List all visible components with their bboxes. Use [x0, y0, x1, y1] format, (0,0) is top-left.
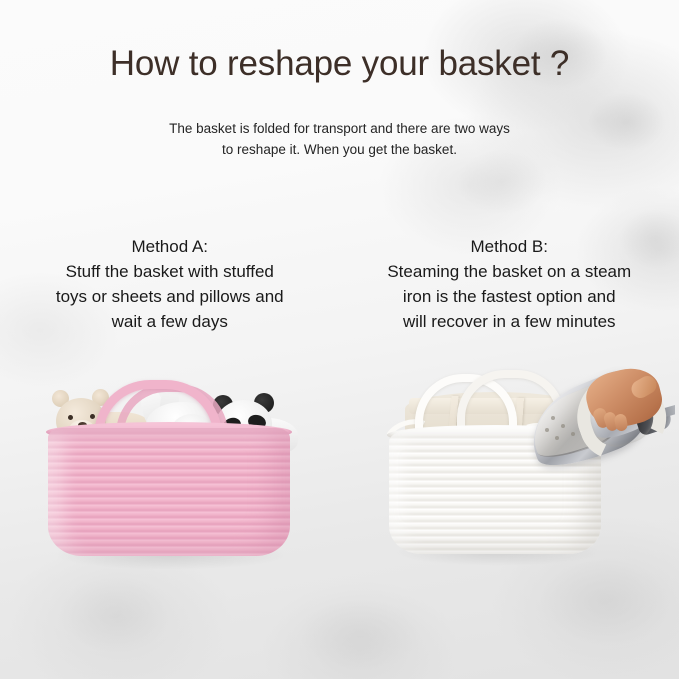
subtitle-line-1: The basket is folded for transport and t… [0, 118, 679, 139]
page-subtitle: The basket is folded for transport and t… [0, 118, 679, 160]
method-b-photo-white-basket [375, 362, 675, 572]
steam-iron-vent-hole [561, 424, 565, 428]
page-title: How to reshape your basket ? [0, 44, 679, 84]
method-a-line-1: Stuff the basket with stuffed [14, 259, 326, 284]
background-bokeh-blob [300, 600, 420, 670]
teddy-bear-eye-shape [90, 414, 95, 419]
steam-iron-vent-hole [551, 416, 555, 420]
method-b-line-3: will recover in a few minutes [354, 309, 666, 334]
steam-iron-vent-hole [545, 428, 549, 432]
steam-iron-vent-hole [571, 432, 575, 436]
method-a-heading: Method A: [14, 234, 326, 259]
subtitle-line-2: to reshape it. When you get the basket. [0, 139, 679, 160]
steam-iron-group [525, 366, 675, 490]
pink-basket-body [48, 428, 290, 556]
background-bokeh-blob [540, 560, 670, 644]
teddy-bear-eye-shape [68, 415, 73, 420]
background-bokeh-blob [60, 576, 170, 652]
method-b-body: Steaming the basket on a steam iron is t… [354, 259, 666, 334]
method-b-line-1: Steaming the basket on a steam [354, 259, 666, 284]
infographic-canvas: How to reshape your basket ? The basket … [0, 0, 679, 679]
method-a-line-3: wait a few days [14, 309, 326, 334]
method-a-line-2: toys or sheets and pillows and [14, 284, 326, 309]
method-a-body: Stuff the basket with stuffed toys or sh… [14, 259, 326, 334]
method-b-column: Method B: Steaming the basket on a steam… [340, 234, 679, 334]
method-a-column: Method A: Stuff the basket with stuffed … [0, 234, 340, 334]
steam-iron-vent-hole [555, 436, 559, 440]
methods-row: Method A: Stuff the basket with stuffed … [0, 234, 679, 334]
method-a-photo-pink-basket [20, 362, 330, 572]
method-b-heading: Method B: [354, 234, 666, 259]
method-b-line-2: iron is the fastest option and [354, 284, 666, 309]
